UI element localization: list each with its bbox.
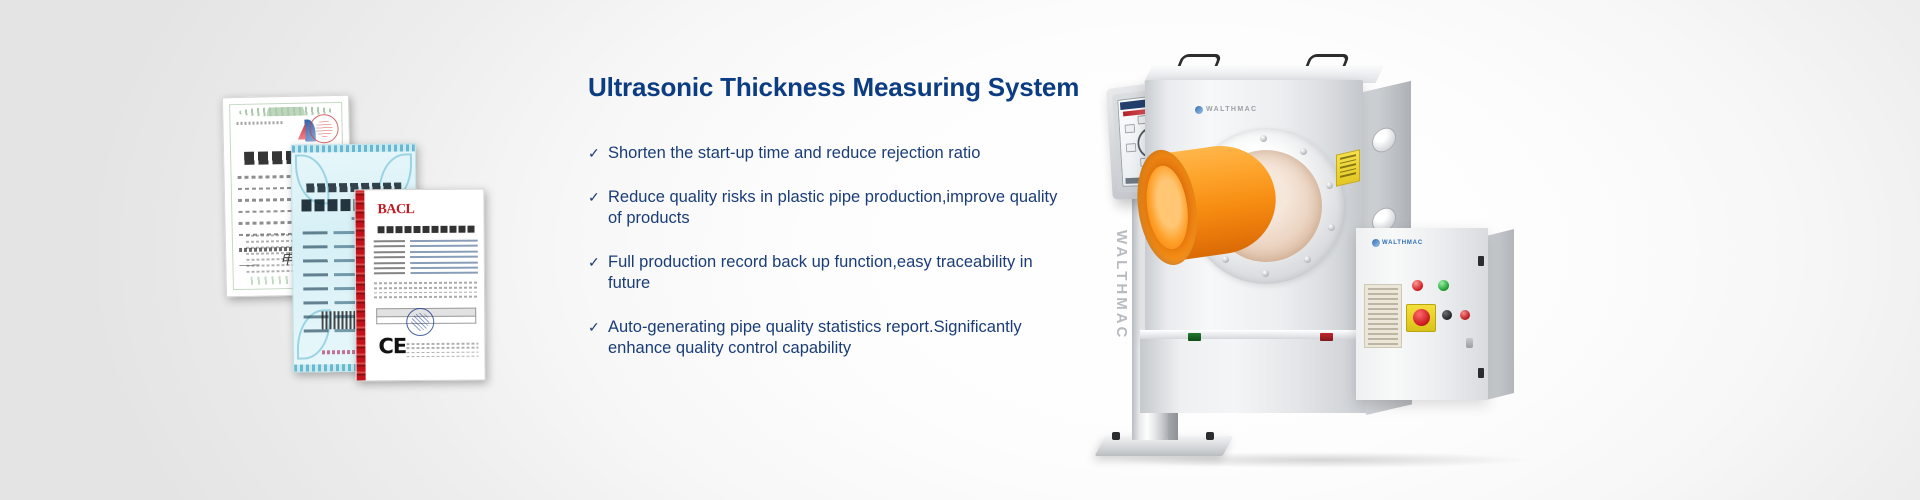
green-indicator-lamp [1438, 280, 1449, 291]
rail-switch-right[interactable] [1320, 333, 1333, 341]
feature-text: Shorten the start-up time and reduce rej… [608, 143, 1058, 164]
feature-list: ✓ Shorten the start-up time and reduce r… [588, 143, 1058, 359]
corner-flourish-top-left [295, 154, 330, 204]
lifting-handle-right[interactable] [1306, 54, 1351, 66]
bacl-blue-seal [406, 308, 434, 336]
bacl-logo: BACL [377, 202, 473, 218]
ventilation-grille [1364, 284, 1402, 348]
red-indicator-lamp [1412, 280, 1423, 291]
door-hinge-upper [1478, 256, 1484, 266]
pipe-bore [1142, 163, 1193, 252]
list-item: ✓ Full production record back up functio… [588, 252, 1058, 294]
banner-copy: Ultrasonic Thickness Measuring System ✓ … [588, 72, 1058, 382]
check-icon: ✓ [588, 318, 608, 336]
ce-mark: CE [378, 334, 406, 358]
check-icon: ✓ [588, 144, 608, 162]
list-item: ✓ Auto-generating pipe quality statistic… [588, 317, 1058, 359]
cabinet-base [1140, 333, 1366, 413]
panel-brand-text: WALTHMAC [1382, 240, 1423, 246]
warning-label [1336, 149, 1360, 187]
cabinet-brand-text: WALTHMAC [1206, 106, 1258, 113]
list-item: ✓ Reduce quality risks in plastic pipe p… [588, 187, 1058, 229]
lifting-handle-left[interactable] [1178, 54, 1223, 66]
orange-plastic-pipe [1130, 135, 1281, 271]
rail-switch-left[interactable] [1188, 333, 1201, 341]
door-latch[interactable] [1466, 338, 1473, 348]
attestation-heading [378, 226, 476, 234]
check-icon: ✓ [588, 253, 608, 271]
feature-text: Auto-generating pipe quality statistics … [608, 317, 1058, 359]
product-banner: 申长雨 BACL [0, 0, 1920, 500]
door-hinge-lower [1478, 368, 1484, 378]
signature-sub-label [239, 263, 259, 266]
electrical-panel-side [1486, 229, 1514, 400]
emergency-stop-switch[interactable] [1406, 304, 1436, 332]
check-icon: ✓ [588, 188, 608, 206]
reset-button[interactable] [1460, 310, 1470, 320]
certificate-bacl-attestation: BACL CE [354, 189, 485, 382]
red-edge-stripe [355, 190, 365, 380]
page-title: Ultrasonic Thickness Measuring System [588, 72, 1058, 103]
electrical-control-panel: WALTHMAC [1356, 228, 1488, 400]
product-photo-ultrasonic-measuring-machine: WALTHMAC [1020, 0, 1920, 500]
ce-declaration-paragraph [406, 343, 478, 360]
pedestal-foot-right [1206, 432, 1214, 440]
attestation-field-rows [374, 240, 478, 278]
ornament-band-top [292, 144, 415, 152]
attestation-paragraph [374, 282, 478, 302]
pedestal-brand-text: WALTHMAC [1113, 230, 1130, 400]
feature-text: Full production record back up function,… [608, 252, 1058, 294]
certificate-stack: 申长雨 BACL [215, 80, 515, 400]
list-item: ✓ Shorten the start-up time and reduce r… [588, 143, 1058, 164]
pedestal-foot-left [1112, 432, 1120, 440]
feature-text: Reduce quality risks in plastic pipe pro… [608, 187, 1058, 229]
selector-knob[interactable] [1442, 310, 1452, 320]
